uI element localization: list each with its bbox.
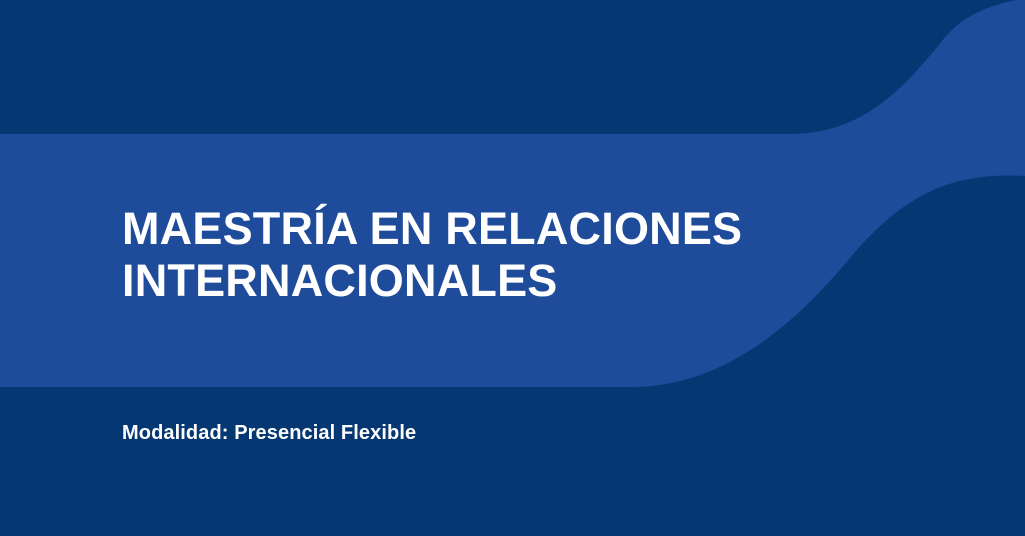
banner-text-layer: MAESTRÍA EN RELACIONES INTERNACIONALES M… xyxy=(0,0,1025,536)
page-title: MAESTRÍA EN RELACIONES INTERNACIONALES xyxy=(122,203,882,307)
modality-label: Modalidad: Presencial Flexible xyxy=(122,420,416,446)
program-banner: MAESTRÍA EN RELACIONES INTERNACIONALES M… xyxy=(0,0,1025,536)
